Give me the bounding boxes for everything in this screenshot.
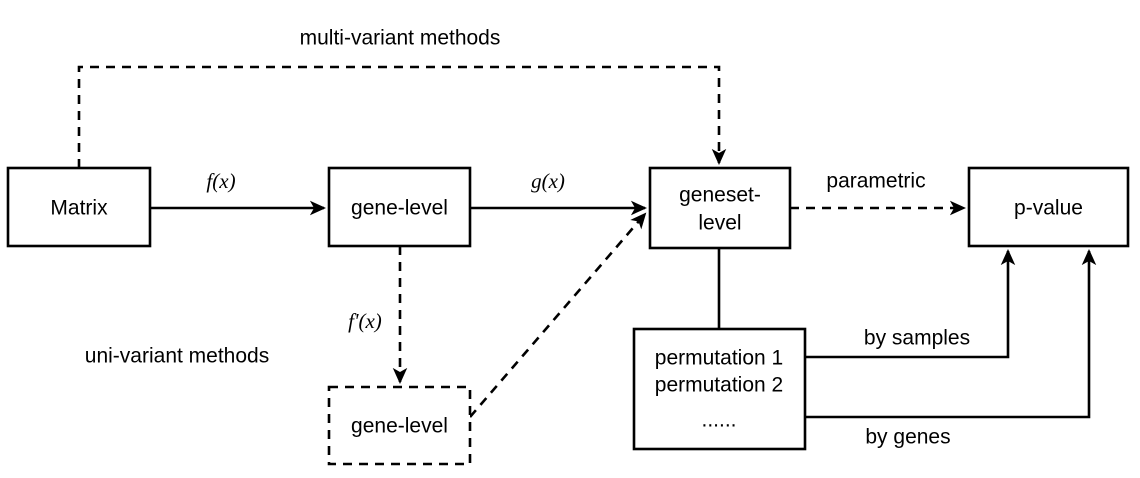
edge-multi-variant-methods bbox=[79, 67, 719, 168]
node-gene-level-top-label: gene-level bbox=[351, 197, 448, 220]
node-permutation-label-line3: ...... bbox=[701, 409, 736, 432]
label-parametric: parametric bbox=[826, 170, 925, 193]
node-geneset-level-box bbox=[650, 168, 790, 248]
node-gene-level-bottom[interactable]: gene-level bbox=[329, 387, 470, 464]
diagram-root: Matrix gene-level geneset- level p-value… bbox=[0, 0, 1140, 478]
diagram-canvas: Matrix gene-level geneset- level p-value… bbox=[0, 0, 1140, 478]
node-geneset-level-label-line2: level bbox=[698, 212, 741, 235]
edge-gene-level-dashed-to-geneset-level bbox=[470, 214, 645, 417]
label-f-prime-of-x: f'(x) bbox=[348, 309, 382, 333]
label-uni-variant-methods: uni-variant methods bbox=[85, 345, 269, 368]
node-gene-level-top[interactable]: gene-level bbox=[329, 168, 470, 246]
label-by-samples: by samples bbox=[864, 327, 970, 350]
label-g-of-x: g(x) bbox=[531, 169, 565, 193]
node-geneset-level[interactable]: geneset- level bbox=[650, 168, 790, 248]
node-permutation[interactable]: permutation 1 permutation 2 ...... bbox=[634, 329, 805, 449]
node-permutation-label-line2: permutation 2 bbox=[655, 374, 783, 397]
node-geneset-level-label-line1: geneset- bbox=[679, 184, 761, 207]
label-by-genes: by genes bbox=[865, 426, 950, 449]
node-matrix[interactable]: Matrix bbox=[8, 168, 150, 246]
label-f-of-x: f(x) bbox=[206, 169, 235, 193]
node-permutation-label-line1: permutation 1 bbox=[655, 347, 783, 370]
node-matrix-label: Matrix bbox=[50, 197, 108, 220]
node-p-value-label: p-value bbox=[1014, 197, 1083, 220]
node-p-value[interactable]: p-value bbox=[969, 168, 1128, 246]
node-gene-level-bottom-label: gene-level bbox=[351, 415, 448, 438]
label-multi-variant-methods: multi-variant methods bbox=[300, 27, 501, 50]
